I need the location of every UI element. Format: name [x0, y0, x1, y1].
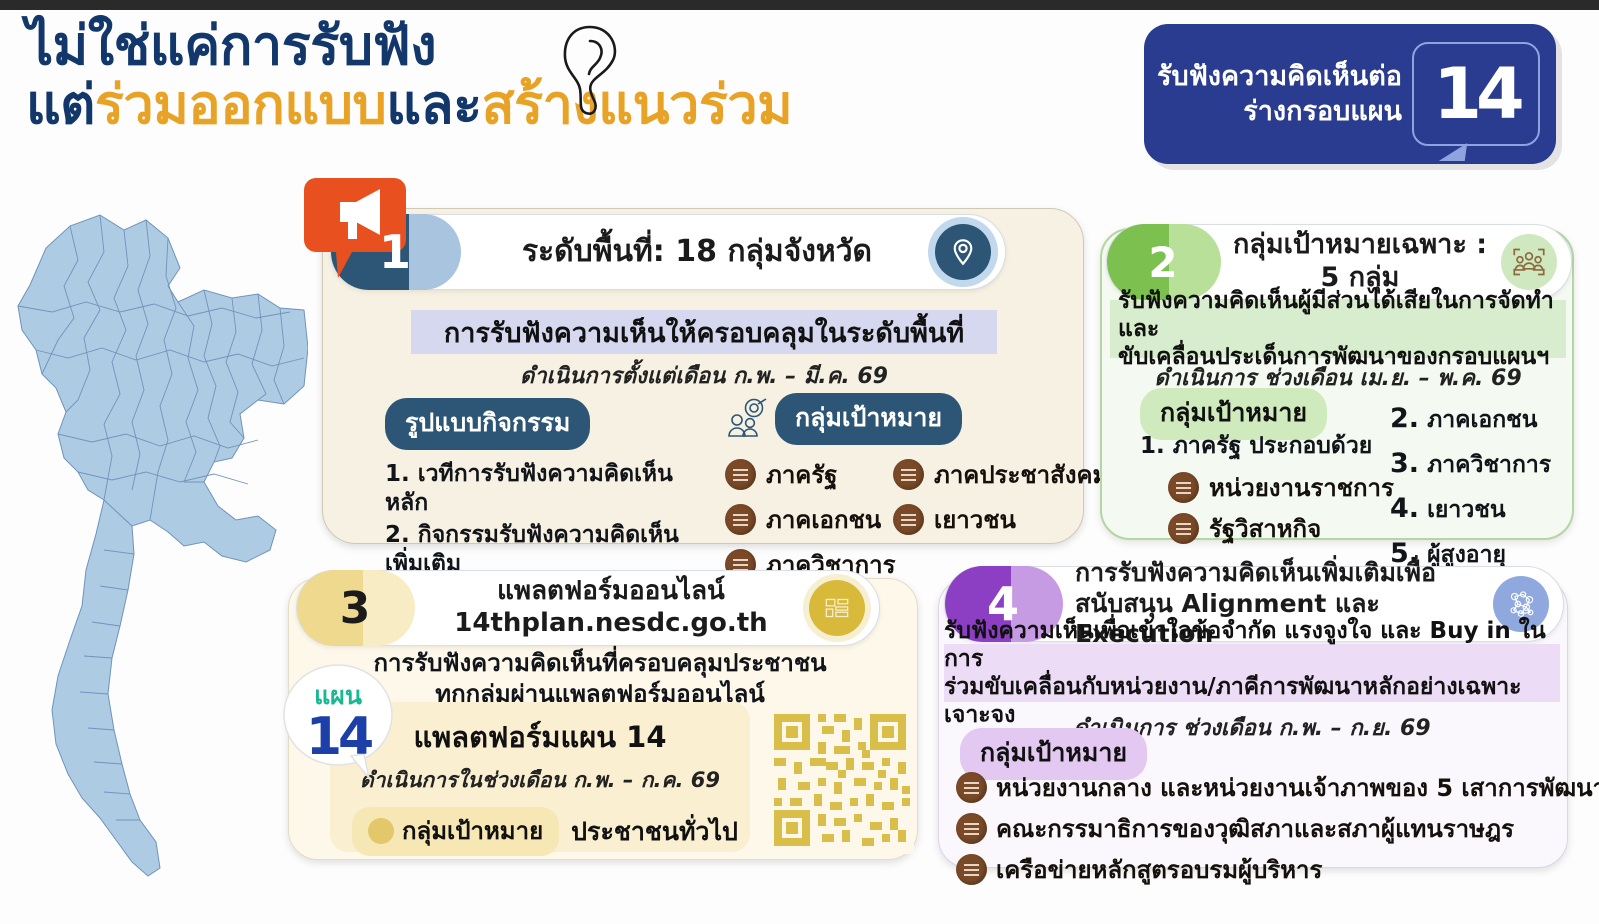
- list-item: หน่วยงานราชการ: [1168, 468, 1390, 507]
- headline-line-2a: แต่: [26, 73, 95, 136]
- people-group-icon: [1501, 234, 1557, 290]
- list-item: เครือข่ายหลักสูตรอบรมผู้บริหาร: [956, 850, 1556, 889]
- card-4-target-list: หน่วยงานกลาง และหน่วยงานเจ้าภาพของ 5 เสา…: [956, 768, 1556, 891]
- thailand-map: [8, 190, 308, 890]
- card-4-banner: รับฟังความเห็นเพื่อเข้าใจข้อจำกัด แรงจูง…: [944, 644, 1560, 702]
- target-label: คณะกรรมาธิการของวุฒิสภาและสภาผู้แทนราษฎร: [996, 809, 1514, 848]
- card-1-banner: การรับฟังความเห็นให้ครอบคลุมในระดับพื้นท…: [411, 310, 997, 354]
- card-3-number: 3: [340, 583, 371, 634]
- list-item: คณะกรรมาธิการของวุฒิสภาและสภาผู้แทนราษฎร: [956, 809, 1556, 848]
- list-bullet-icon: [725, 459, 756, 490]
- list-item: 1. เวทีการรับฟังความคิดเห็นหลัก: [385, 460, 715, 519]
- card-1-number: 1: [379, 225, 411, 279]
- list-bullet-icon: [893, 459, 924, 490]
- target-label: ภาครัฐ: [766, 455, 837, 494]
- badge-line-1: รับฟังความคิดเห็นต่อ: [1157, 59, 1402, 94]
- card-3-header: 3 แพลตฟอร์มออนไลน์ 14thplan.nesdc.go.th: [296, 570, 880, 646]
- plan-14-badge: รับฟังความคิดเห็นต่อ ร่างกรอบแผน 14: [1144, 24, 1556, 164]
- card-4-title-line-1: การรับฟังความคิดเห็นเพิ่มเติมเพื่อ: [1075, 558, 1485, 589]
- card-3-title-line-1: แพลตฟอร์มออนไลน์: [421, 576, 801, 608]
- card-3-url[interactable]: 14thplan.nesdc.go.th: [421, 608, 801, 640]
- target-label: ภาคเอกชน: [766, 500, 881, 539]
- list-item: 2. ภาคเอกชน: [1390, 402, 1570, 438]
- list-bullet-icon: [956, 813, 987, 844]
- card-1-pill-cap: [409, 214, 461, 290]
- badge-text: รับฟังความคิดเห็นต่อ ร่างกรอบแผน: [1157, 59, 1402, 129]
- item-text: ภาควิชาการ: [1427, 452, 1551, 478]
- headline-line-2: แต่ร่วมออกแบบและสร้างแนวร่วม: [26, 77, 926, 132]
- target-label: หน่วยงานกลาง และหน่วยงานเจ้าภาพของ 5 เสา…: [996, 768, 1599, 807]
- list-bullet-icon: [1168, 472, 1199, 503]
- list-item: ภาคเอกชน: [725, 500, 893, 539]
- list-bullet-icon: [956, 772, 987, 803]
- list-bullet-icon: [725, 504, 756, 535]
- headline-line-2c: และ: [386, 73, 481, 136]
- list-item: 3. ภาควิชาการ: [1390, 447, 1570, 483]
- item-number: 2.: [1390, 403, 1419, 434]
- item-number: 3.: [1390, 448, 1419, 479]
- item-number: 4.: [1390, 493, 1419, 524]
- qr-code-icon[interactable]: [766, 706, 914, 854]
- logo-number: 14: [306, 707, 372, 767]
- target-label: ภาคประชาสังคม: [934, 455, 1108, 494]
- sub-target-label: รัฐวิสาหกิจ: [1209, 509, 1321, 548]
- list-item: หน่วยงานกลาง และหน่วยงานเจ้าภาพของ 5 เสา…: [956, 768, 1556, 807]
- list-item: ภาครัฐ: [725, 455, 893, 494]
- headline-line-2b: ร่วมออกแบบ: [95, 73, 386, 136]
- badge-number: 14: [1433, 53, 1518, 135]
- card-1-header: 1 ระดับพื้นที่: 18 กลุ่มจังหวัด: [330, 214, 1006, 290]
- headline-line-2d: สร้างแนวร่วม: [482, 73, 793, 136]
- sub-target-label: หน่วยงานราชการ: [1209, 468, 1394, 507]
- card-2-item-1: 1. ภาครัฐ ประกอบด้วย: [1140, 428, 1390, 464]
- list-bullet-icon: [1168, 513, 1199, 544]
- card-3-target-pill: กลุ่มเป้าหมาย: [352, 807, 559, 856]
- card-4-banner-line-1: รับฟังความเห็นเพื่อเข้าใจข้อจำกัด แรงจูง…: [944, 617, 1560, 673]
- list-item: ภาคประชาสังคม: [893, 455, 1108, 494]
- top-bar: [0, 0, 1599, 10]
- activity-1-index: 1.: [385, 461, 410, 487]
- activity-1-text: เวทีการรับฟังความคิดเห็นหลัก: [385, 461, 673, 516]
- ear-icon: [556, 24, 626, 116]
- target-group-icon: [725, 398, 769, 440]
- card-2-title: กลุ่มเป้าหมายเฉพาะ : 5 กลุ่ม: [1219, 229, 1501, 295]
- card-2-banner: รับฟังความคิดเห็นผู้มีส่วนได้เสียในการจั…: [1110, 300, 1566, 358]
- card-3-title: แพลตฟอร์มออนไลน์ 14thplan.nesdc.go.th: [413, 576, 809, 639]
- card-3-target-label: กลุ่มเป้าหมาย: [402, 811, 543, 850]
- card-3-target-value: ประชาชนทั่วไป: [571, 812, 738, 852]
- card-1-banner-text: การรับฟังความเห็นให้ครอบคลุมในระดับพื้นท…: [444, 311, 964, 354]
- card-1-activity-label: รูปแบบกิจกรรม: [385, 398, 590, 450]
- target-label: เยาวชน: [934, 500, 1016, 539]
- activity-2-text: กิจกรรมรับฟังความคิดเห็นเพิ่มเติม: [385, 522, 679, 577]
- item-text: ภาคเอกชน: [1427, 407, 1537, 433]
- gold-coin-icon: [809, 580, 865, 636]
- seal-icon: [368, 818, 394, 844]
- list-bullet-icon: [893, 504, 924, 535]
- card-3-pill-cap: [363, 570, 415, 646]
- location-pin-icon: [935, 224, 991, 280]
- card-3-number-pill: 3: [297, 570, 413, 646]
- card-2-right-list: 2. ภาคเอกชน 3. ภาควิชาการ 4. เยาวชน 5. ผ…: [1390, 402, 1570, 582]
- target-label: เครือข่ายหลักสูตรอบรมผู้บริหาร: [996, 850, 1322, 889]
- card-1-target-column: กลุ่มเป้าหมาย ภาครัฐ ภาคประชาสังคม ภาคเอ…: [725, 393, 1065, 586]
- card-1-timeline: ดำเนินการตั้งแต่เดือน ก.พ. – มี.ค. 69: [411, 358, 997, 393]
- logo-plan-text: แผน: [314, 681, 362, 710]
- list-item: รัฐวิสาหกิจ: [1168, 509, 1390, 548]
- list-bullet-icon: [956, 854, 987, 885]
- card-2-number: 2: [1148, 238, 1177, 287]
- headline: ไม่ใช่แค่การรับฟัง แต่ร่วมออกแบบและสร้าง…: [26, 18, 926, 132]
- list-item: เยาวชน: [893, 500, 1108, 539]
- plan-14-logo: แผน 14: [277, 660, 399, 782]
- badge-line-2: ร่างกรอบแผน: [1157, 94, 1402, 129]
- list-item: 4. เยาวชน: [1390, 492, 1570, 528]
- card-2-left-list: 1. ภาครัฐ ประกอบด้วย หน่วยงานราชการ รัฐว…: [1140, 428, 1390, 550]
- badge-logo-bubble: 14: [1412, 42, 1540, 146]
- card-1-target-label: กลุ่มเป้าหมาย: [775, 393, 962, 445]
- activity-2-index: 2.: [385, 522, 410, 548]
- headline-line-1: ไม่ใช่แค่การรับฟัง: [26, 18, 926, 73]
- item-text: เยาวชน: [1427, 497, 1506, 523]
- card-4-number: 4: [987, 577, 1019, 631]
- card-3-target-row: กลุ่มเป้าหมาย ประชาชนทั่วไป: [330, 807, 750, 856]
- infographic-root: ไม่ใช่แค่การรับฟัง แต่ร่วมออกแบบและสร้าง…: [0, 0, 1599, 924]
- card-2-banner-line-1: รับฟังความคิดเห็นผู้มีส่วนได้เสียในการจั…: [1118, 287, 1566, 343]
- card-1-title: ระดับพื้นที่: 18 กลุ่มจังหวัด: [459, 234, 935, 271]
